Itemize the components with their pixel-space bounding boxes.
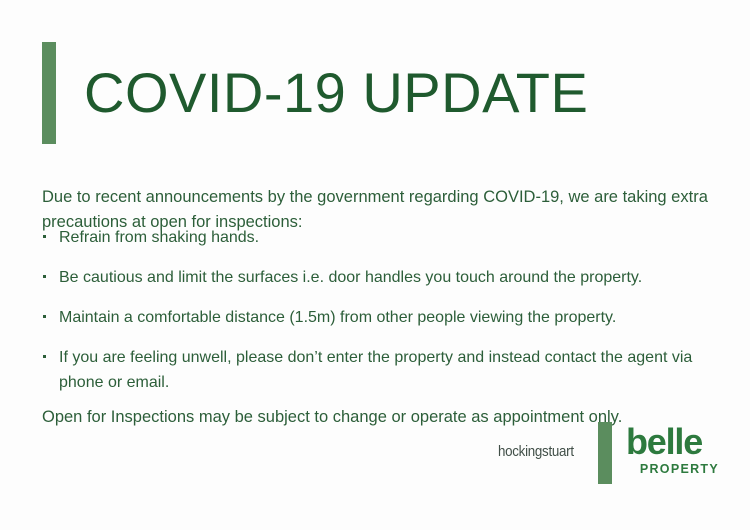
property-subtitle: PROPERTY (626, 462, 720, 476)
brand-logo-lockup: hockingstuart belle PROPERTY (498, 422, 720, 488)
bullet-point-icon (43, 235, 46, 238)
list-item-label: Maintain a comfortable distance (1.5m) f… (59, 309, 616, 326)
precautions-list: Refrain from shaking hands. Be cautious … (42, 225, 718, 395)
list-item: Maintain a comfortable distance (1.5m) f… (42, 305, 718, 330)
list-item-label: If you are feeling unwell, please don’t … (59, 349, 692, 391)
belle-wordmark: belle (626, 422, 720, 462)
hockingstuart-wordmark: hockingstuart (498, 444, 574, 460)
logo-divider-bar (598, 422, 612, 484)
bullet-point-icon (43, 355, 46, 358)
list-item: If you are feeling unwell, please don’t … (42, 345, 718, 395)
title-accent-bar (42, 42, 56, 144)
list-item-label: Be cautious and limit the surfaces i.e. … (59, 269, 642, 286)
belle-property-logo: belle PROPERTY (626, 422, 720, 476)
bullet-point-icon (43, 275, 46, 278)
list-item-label: Refrain from shaking hands. (59, 229, 259, 246)
list-item: Be cautious and limit the surfaces i.e. … (42, 265, 718, 290)
page-title: COVID-19 UPDATE (84, 65, 588, 121)
bullet-point-icon (43, 315, 46, 318)
covid-update-slide: COVID-19 UPDATE Due to recent announceme… (0, 0, 750, 530)
slide-title-block: COVID-19 UPDATE (42, 42, 702, 144)
list-item: Refrain from shaking hands. (42, 225, 718, 250)
